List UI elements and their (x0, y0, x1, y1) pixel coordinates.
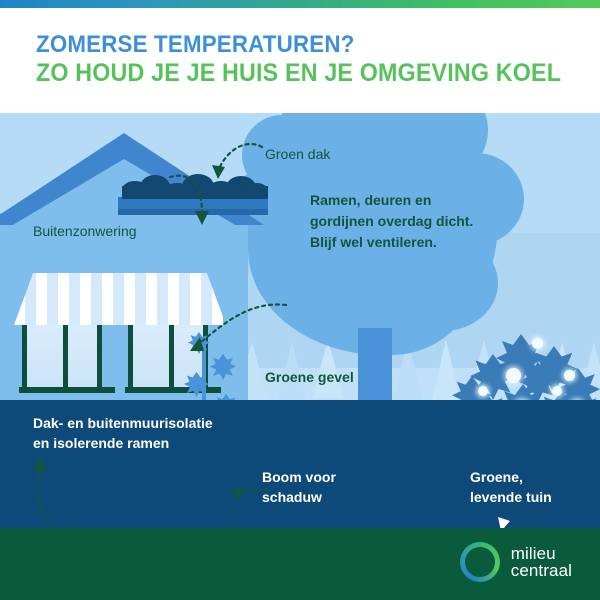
label-exterior-sunshade: Buitenzonwering (33, 223, 137, 239)
label-windows-doors: Ramen, deuren en gordijnen overdag dicht… (310, 190, 473, 253)
brand-name-line-1: milieu (511, 545, 572, 562)
arrow-insulation (22, 453, 66, 528)
window-left (22, 325, 102, 387)
label-shade-tree: Boom voor schaduw (262, 467, 336, 507)
arrow-living-garden (464, 517, 520, 528)
headline-line-1: Zomerse temperaturen? (36, 30, 538, 59)
arrow-windows-doors (160, 299, 290, 371)
brand-logo[interactable]: milieu centraal (460, 542, 572, 582)
top-gradient-bar (0, 0, 600, 8)
label-green-facade: Groene gevel (265, 369, 354, 385)
ring-logo-icon (460, 542, 500, 582)
brand-logo-text: milieu centraal (511, 545, 572, 579)
label-insulation: Dak- en buitenmuurisolatie en isolerende… (33, 413, 213, 453)
label-living-garden: Groene, levende tuin (470, 467, 552, 507)
headline-line-2: Zo houd je je huis en je omgeving koel (36, 59, 538, 88)
infographic-root: Zomerse temperaturen? Zo houd je je huis… (0, 0, 600, 600)
label-green-roof: Groen dak (265, 146, 330, 162)
brand-name-line-2: centraal (511, 562, 572, 579)
illustration-scene (0, 113, 600, 528)
footer-bar: milieu centraal (0, 528, 600, 600)
arrow-sunshade (168, 171, 218, 233)
page-title: Zomerse temperaturen? Zo houd je je huis… (36, 30, 576, 88)
